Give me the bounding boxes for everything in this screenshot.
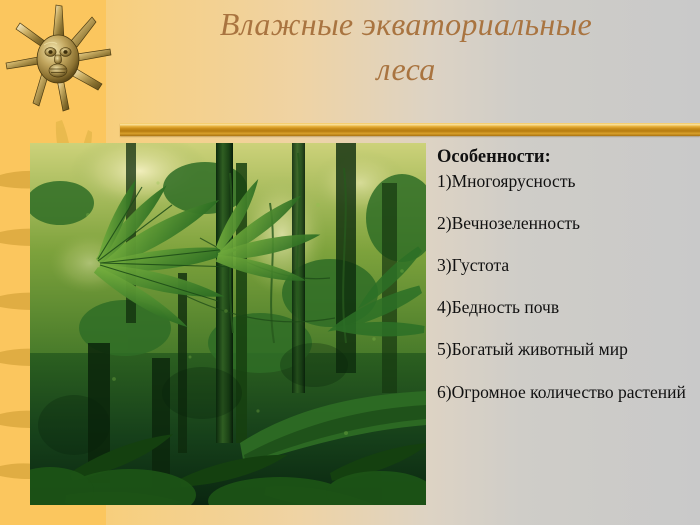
slide: Влажные экваториальные леса bbox=[0, 0, 700, 525]
slide-title-line-1: Влажные экваториальные bbox=[118, 2, 694, 47]
feature-item: 4)Бедность почв bbox=[437, 296, 695, 318]
feature-item: 2)Вечнозеленность bbox=[437, 212, 695, 234]
slide-title: Влажные экваториальные леса bbox=[118, 2, 694, 93]
features-heading: Особенности: bbox=[437, 146, 695, 169]
feature-item: 6)Огромное количество растений bbox=[437, 381, 695, 403]
feature-item: 5)Богатый животный мир bbox=[437, 338, 695, 360]
features-panel: Особенности: 1)Многоярусность 2)Вечнозел… bbox=[437, 146, 695, 403]
feature-item: 3)Густота bbox=[437, 254, 695, 276]
feature-item: 1)Многоярусность bbox=[437, 170, 695, 192]
rainforest-photo bbox=[30, 143, 426, 505]
gold-divider-bar bbox=[120, 123, 700, 136]
sun-face-ornament-icon bbox=[4, 2, 112, 118]
slide-title-line-2: леса bbox=[118, 47, 694, 92]
